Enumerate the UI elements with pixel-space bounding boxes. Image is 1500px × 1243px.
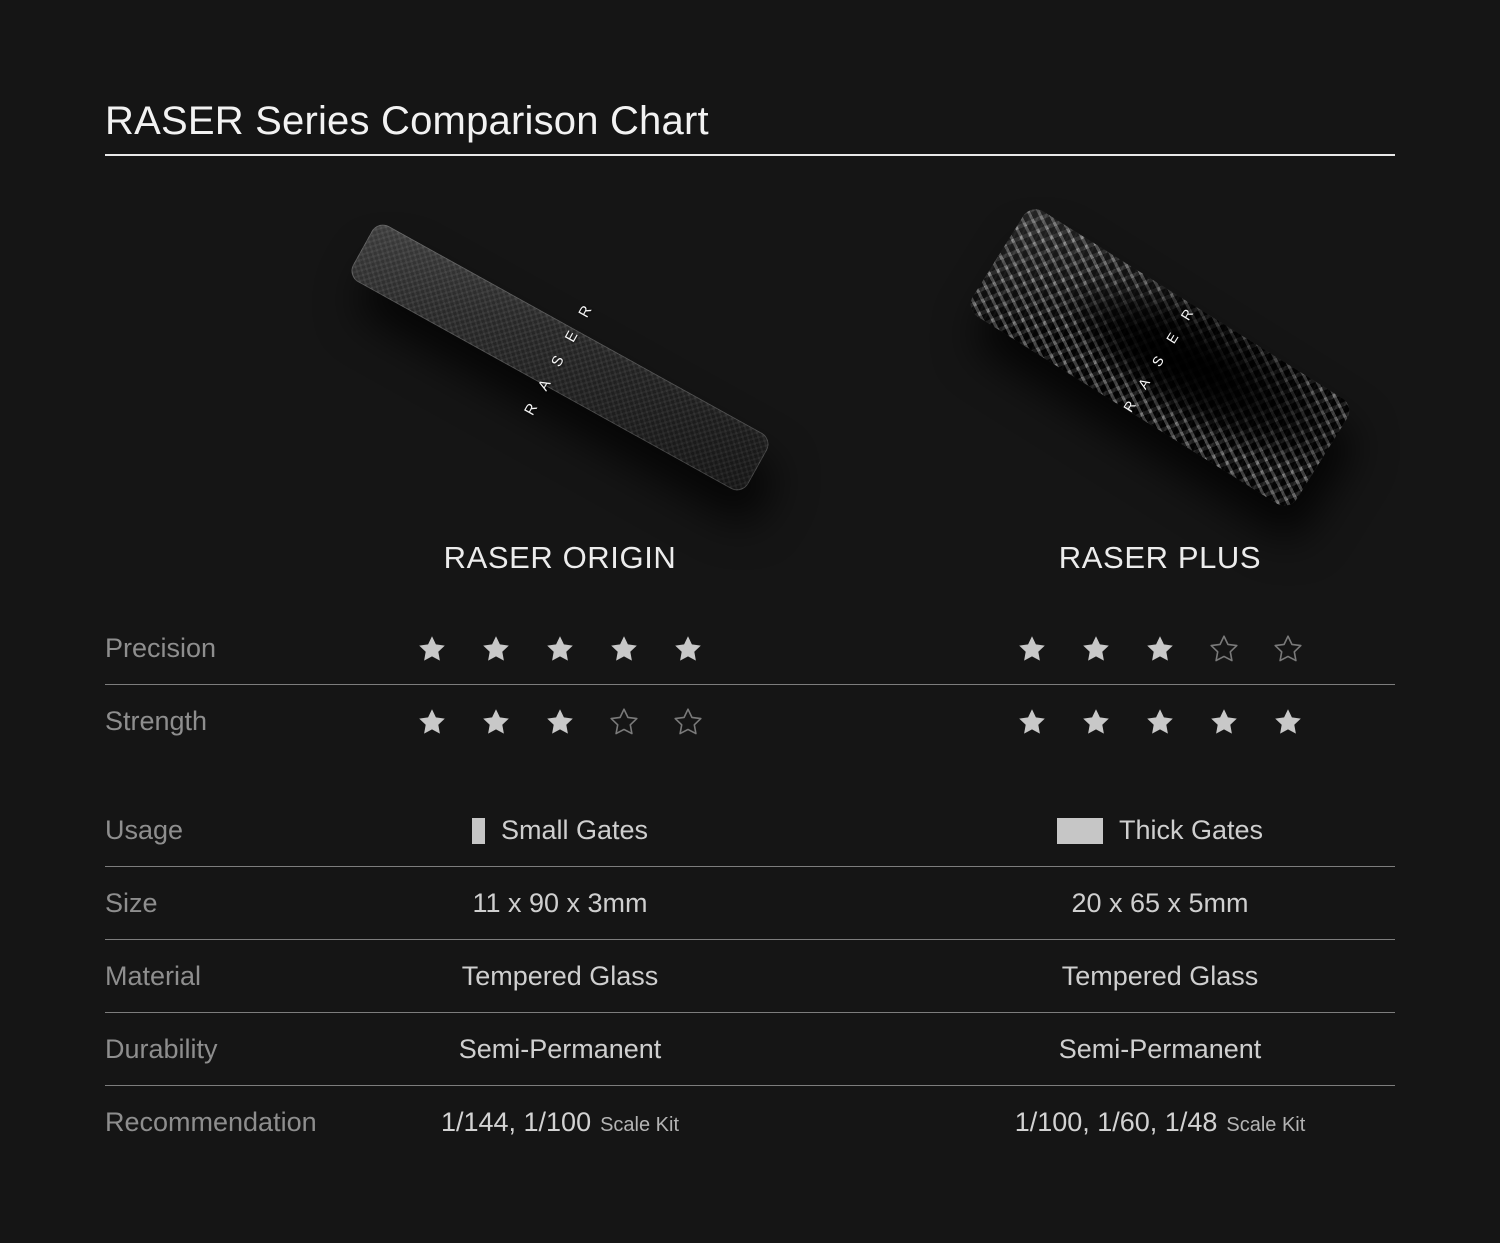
product-image-origin: R A S E R	[300, 185, 820, 530]
star-rating	[417, 707, 703, 737]
durability-origin-value: Semi-Permanent	[300, 1013, 820, 1086]
usage-plus-text: Thick Gates	[1119, 815, 1263, 846]
column-headers: RASER ORIGIN RASER PLUS	[105, 540, 1395, 586]
product-showcase: R A S E R R A S E R	[105, 185, 1395, 530]
star-filled-icon	[1081, 634, 1111, 664]
table-row-size: Size 11 x 90 x 3mm 20 x 65 x 5mm	[105, 867, 1395, 940]
star-filled-icon	[417, 707, 447, 737]
star-filled-icon	[609, 634, 639, 664]
strength-origin-rating	[300, 685, 820, 758]
recommendation-plus-value: 1/100, 1/60, 1/48 Scale Kit	[900, 1086, 1420, 1159]
page-title: RASER Series Comparison Chart	[105, 100, 1395, 142]
star-filled-icon	[673, 634, 703, 664]
row-label-material: Material	[105, 940, 201, 1013]
table-row-durability: Durability Semi-Permanent Semi-Permanent	[105, 1013, 1395, 1086]
usage-origin-value: Small Gates	[300, 794, 820, 867]
raser-origin-bar-icon: R A S E R	[347, 220, 773, 495]
star-rating	[1017, 707, 1303, 737]
strength-plus-rating	[900, 685, 1420, 758]
star-filled-icon	[1145, 707, 1175, 737]
precision-plus-rating	[900, 612, 1420, 685]
product-image-plus: R A S E R	[900, 185, 1420, 530]
row-label-precision: Precision	[105, 612, 216, 685]
table-row-material: Material Tempered Glass Tempered Glass	[105, 940, 1395, 1013]
material-origin-value: Tempered Glass	[300, 940, 820, 1013]
wide-rectangle-swatch-icon	[1057, 818, 1103, 844]
star-filled-icon	[545, 707, 575, 737]
table-row-strength: Strength	[105, 685, 1395, 758]
comparison-table: Precision Strength Usage	[105, 612, 1395, 1159]
recommendation-origin-suffix: Scale Kit	[600, 1114, 679, 1137]
recommendation-plus-suffix: Scale Kit	[1226, 1114, 1305, 1137]
star-filled-icon	[1081, 707, 1111, 737]
star-filled-icon	[481, 634, 511, 664]
title-block: RASER Series Comparison Chart	[105, 100, 1395, 156]
star-filled-icon	[417, 634, 447, 664]
star-filled-icon	[481, 707, 511, 737]
raser-plus-bar-icon: R A S E R	[965, 204, 1355, 512]
product-stage-origin: R A S E R	[300, 185, 820, 530]
small-rectangle-swatch-icon	[472, 818, 485, 844]
star-filled-icon	[1273, 707, 1303, 737]
usage-origin-text: Small Gates	[501, 815, 648, 846]
recommendation-origin-value: 1/144, 1/100 Scale Kit	[300, 1086, 820, 1159]
star-empty-icon	[673, 707, 703, 737]
star-rating	[1017, 634, 1303, 664]
star-rating	[417, 634, 703, 664]
table-row-usage: Usage Small Gates Thick Gates	[105, 794, 1395, 867]
material-plus-value: Tempered Glass	[900, 940, 1420, 1013]
row-label-size: Size	[105, 867, 158, 940]
durability-plus-value: Semi-Permanent	[900, 1013, 1420, 1086]
row-label-strength: Strength	[105, 685, 207, 758]
star-filled-icon	[545, 634, 575, 664]
table-row-recommendation: Recommendation 1/144, 1/100 Scale Kit 1/…	[105, 1086, 1395, 1159]
column-header-plus: RASER PLUS	[900, 540, 1420, 576]
column-header-origin: RASER ORIGIN	[300, 540, 820, 576]
recommendation-plus-scales: 1/100, 1/60, 1/48	[1015, 1107, 1218, 1138]
star-empty-icon	[1209, 634, 1239, 664]
origin-engraving-text: R A S E R	[521, 297, 599, 419]
star-filled-icon	[1017, 707, 1047, 737]
table-row-precision: Precision	[105, 612, 1395, 685]
usage-plus-value: Thick Gates	[900, 794, 1420, 867]
star-filled-icon	[1017, 634, 1047, 664]
title-divider	[105, 154, 1395, 156]
row-label-recommendation: Recommendation	[105, 1086, 317, 1159]
precision-origin-rating	[300, 612, 820, 685]
row-label-durability: Durability	[105, 1013, 218, 1086]
star-empty-icon	[1273, 634, 1303, 664]
product-stage-plus: R A S E R	[900, 185, 1420, 530]
recommendation-origin-scales: 1/144, 1/100	[441, 1107, 591, 1138]
star-filled-icon	[1209, 707, 1239, 737]
size-origin-value: 11 x 90 x 3mm	[300, 867, 820, 940]
star-empty-icon	[609, 707, 639, 737]
row-label-usage: Usage	[105, 794, 183, 867]
star-filled-icon	[1145, 634, 1175, 664]
comparison-chart-page: RASER Series Comparison Chart R A S E R …	[0, 0, 1500, 1243]
size-plus-value: 20 x 65 x 5mm	[900, 867, 1420, 940]
